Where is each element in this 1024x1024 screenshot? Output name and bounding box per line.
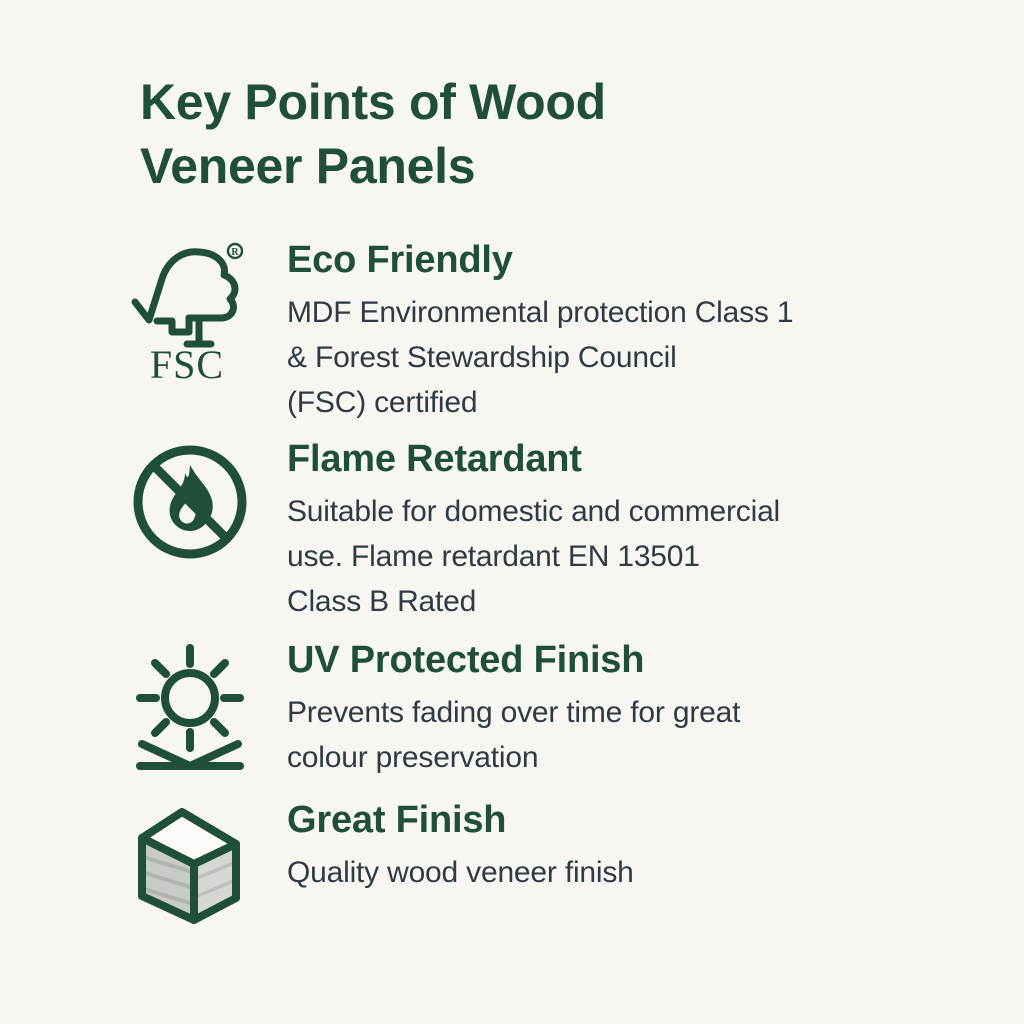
feature-title: Flame Retardant: [287, 435, 1024, 483]
feature-body: Great Finish Quality wood veneer finish: [260, 796, 1024, 895]
feature-description: MDF Environmental protection Class 1 & F…: [287, 290, 1024, 425]
registered-trademark-icon: R: [228, 244, 242, 258]
feature-title: Eco Friendly: [287, 236, 1024, 284]
feature-body: Eco Friendly MDF Environmental protectio…: [260, 236, 1024, 425]
feature-item-uv-protected: UV Protected Finish Prevents fading over…: [0, 636, 1024, 780]
sun-uv-protection-icon: [120, 636, 260, 772]
feature-item-eco-friendly: R FSC Eco Friendly MDF Environmental pro…: [0, 236, 1024, 425]
page-title: Key Points of Wood Veneer Panels: [140, 70, 760, 198]
feature-description: Prevents fading over time for great colo…: [287, 690, 1024, 780]
feature-body: UV Protected Finish Prevents fading over…: [260, 636, 1024, 780]
feature-description: Suitable for domestic and commercial use…: [287, 489, 1024, 624]
svg-text:FSC: FSC: [150, 342, 224, 382]
infographic-page: Key Points of Wood Veneer Panels: [0, 0, 1024, 1024]
feature-item-great-finish: Great Finish Quality wood veneer finish: [0, 796, 1024, 930]
fsc-certified-icon: R FSC: [120, 236, 260, 382]
wood-panel-isometric-icon: [120, 796, 260, 930]
feature-title: Great Finish: [287, 796, 1024, 844]
feature-description: Quality wood veneer finish: [287, 850, 1024, 895]
feature-title: UV Protected Finish: [287, 636, 1024, 684]
no-flame-icon: [120, 435, 260, 563]
feature-item-flame-retardant: Flame Retardant Suitable for domestic an…: [0, 435, 1024, 624]
feature-body: Flame Retardant Suitable for domestic an…: [260, 435, 1024, 624]
feature-list: R FSC Eco Friendly MDF Environmental pro…: [0, 236, 1024, 930]
svg-text:R: R: [231, 247, 239, 258]
